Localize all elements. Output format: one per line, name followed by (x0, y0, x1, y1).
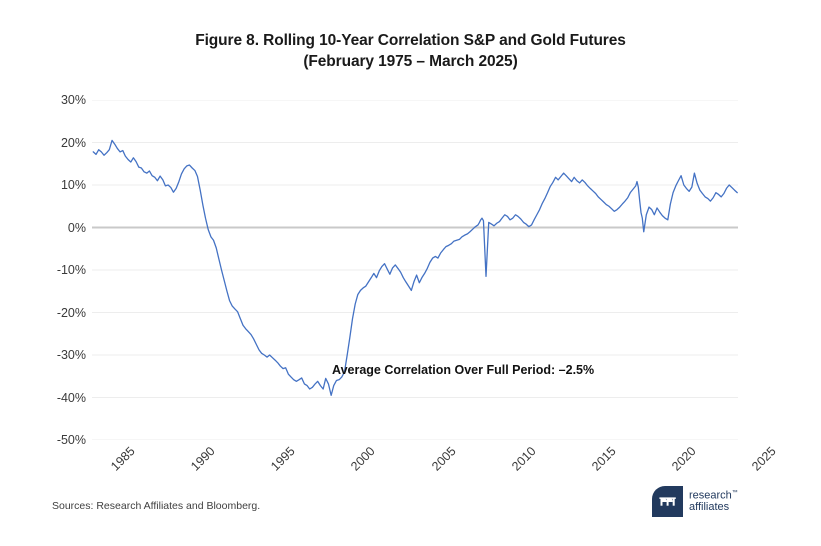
x-tick-label: 2020 (669, 444, 699, 474)
y-tick-label: 20% (40, 136, 86, 150)
chart-figure: Figure 8. Rolling 10-Year Correlation S&… (0, 0, 821, 546)
y-tick-label: -10% (40, 263, 86, 277)
x-tick-label: 1995 (268, 444, 298, 474)
y-tick-label: -30% (40, 348, 86, 362)
logo-word-research: research™ (689, 488, 738, 502)
y-tick-label: -20% (40, 306, 86, 320)
average-correlation-annotation: Average Correlation Over Full Period: –2… (332, 363, 594, 377)
x-tick-label: 2015 (589, 444, 619, 474)
logo-word-affiliates: affiliates (689, 502, 738, 514)
y-tick-label: 10% (40, 178, 86, 192)
series-line-rolling-correlation (93, 140, 737, 395)
chart-title-block: Figure 8. Rolling 10-Year Correlation S&… (0, 30, 821, 72)
x-tick-label: 1990 (188, 444, 218, 474)
x-tick-label: 2005 (429, 444, 459, 474)
x-tick-label: 2000 (349, 444, 379, 474)
chart-plot-svg (92, 100, 738, 440)
source-note: Sources: Research Affiliates and Bloombe… (52, 500, 260, 512)
x-tick-label: 2025 (749, 444, 779, 474)
logo-wordmark: research™ affiliates (689, 488, 738, 514)
y-axis: 30%20%10%0%-10%-20%-30%-40%-50% (40, 100, 86, 440)
research-affiliates-logo: research™ affiliates (652, 484, 748, 518)
y-tick-label: 30% (40, 93, 86, 107)
chart-title-line-1: Figure 8. Rolling 10-Year Correlation S&… (0, 30, 821, 51)
x-tick-label: 2010 (509, 444, 539, 474)
x-tick-label: 1985 (108, 444, 138, 474)
chart-title-line-2: (February 1975 – March 2025) (0, 51, 821, 72)
y-tick-label: 0% (40, 221, 86, 235)
logo-trademark-icon: ™ (732, 490, 738, 496)
gridlines (92, 100, 738, 440)
research-affiliates-mark-icon (652, 486, 683, 517)
plot-area (92, 100, 738, 440)
y-tick-label: -40% (40, 391, 86, 405)
